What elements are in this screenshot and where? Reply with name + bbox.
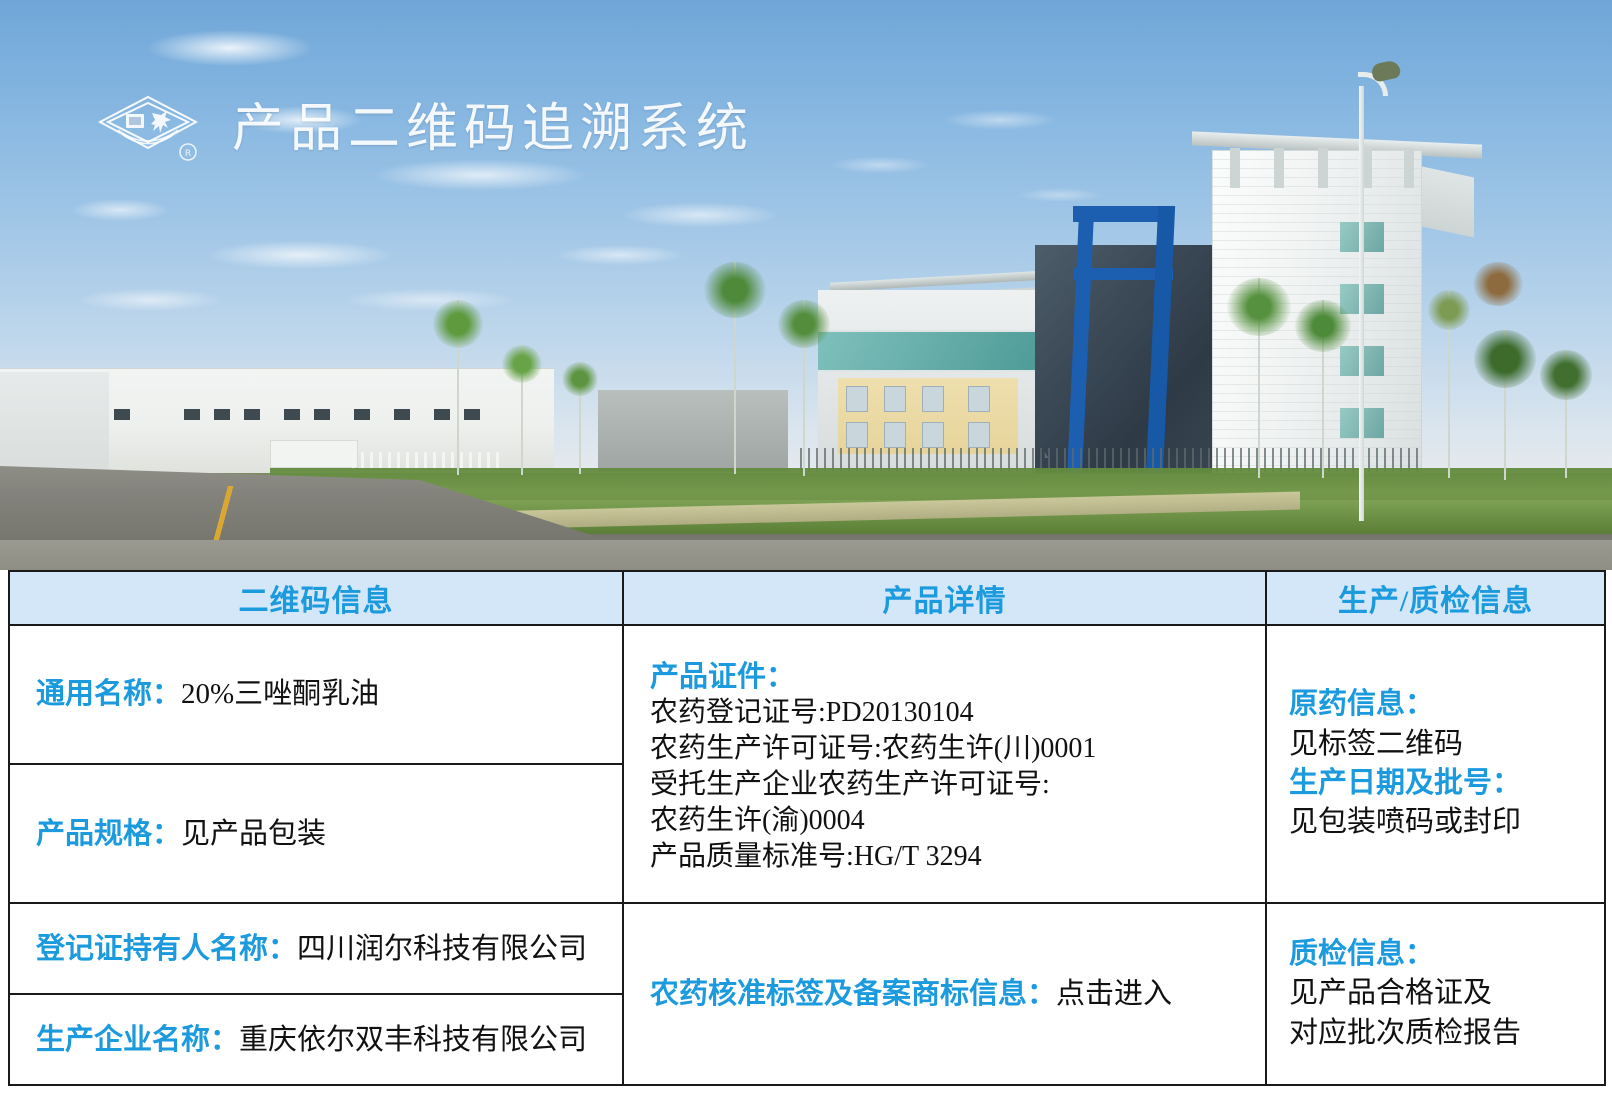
label-product-certificates: 产品证件： bbox=[650, 653, 1239, 695]
label-manufacturer-name: 生产企业名称： bbox=[36, 1024, 239, 1056]
cert-line: 农药生许(渝)0004 bbox=[650, 803, 1239, 839]
cell-registrant-name: 登记证持有人名称：四川润尔科技有限公司 bbox=[9, 903, 623, 994]
tree bbox=[1470, 330, 1540, 480]
approved-label-enter-link[interactable]: 点击进入 bbox=[1056, 978, 1172, 1010]
tree bbox=[430, 300, 486, 475]
traceability-page: R 产品二维码追溯系统 二维码信息 产品详情 生产/质检信息 通用名称：20%三… bbox=[0, 0, 1612, 1100]
cert-line: 受托生产企业农药生产许可证号: bbox=[650, 767, 1239, 803]
tower-roof-fins bbox=[1212, 148, 1422, 188]
value-manufacturer-name: 重庆依尔双丰科技有限公司 bbox=[239, 1024, 587, 1056]
svg-text:R: R bbox=[185, 149, 191, 159]
cert-line: 产品质量标准号:HG/T 3294 bbox=[650, 839, 1239, 875]
tree bbox=[700, 262, 770, 474]
tree bbox=[560, 362, 600, 474]
cell-manufacturer-name: 生产企业名称：重庆依尔双丰科技有限公司 bbox=[9, 994, 623, 1085]
label-registrant-name: 登记证持有人名称： bbox=[36, 933, 297, 965]
page-title: 产品二维码追溯系统 bbox=[232, 103, 754, 155]
table-header-row: 二维码信息 产品详情 生产/质检信息 bbox=[9, 571, 1605, 625]
foreground-pavement bbox=[0, 540, 1612, 570]
entrance-sign bbox=[270, 440, 358, 468]
label-production-date-batch: 生产日期及批号： bbox=[1289, 764, 1582, 803]
street-lamp-pole bbox=[1359, 86, 1364, 521]
label-product-spec: 产品规格： bbox=[36, 818, 181, 850]
tree bbox=[1536, 350, 1596, 478]
office-yellow-facade bbox=[838, 378, 1018, 454]
column-header-product: 产品详情 bbox=[623, 571, 1266, 625]
label-raw-material-info: 原药信息： bbox=[1289, 685, 1582, 724]
column-header-qr: 二维码信息 bbox=[9, 571, 623, 625]
value-product-spec: 见产品包装 bbox=[181, 818, 326, 850]
value-production-date-batch: 见包装喷码或封印 bbox=[1289, 803, 1582, 842]
cell-quality-info: 质检信息： 见产品合格证及 对应批次质检报告 bbox=[1266, 903, 1605, 1085]
value-quality-info-line1: 见产品合格证及 bbox=[1289, 974, 1582, 1013]
value-quality-info-line2: 对应批次质检报告 bbox=[1289, 1014, 1582, 1053]
cell-common-name: 通用名称：20%三唑酮乳油 bbox=[9, 625, 623, 764]
table-row: 登记证持有人名称：四川润尔科技有限公司 农药核准标签及备案商标信息：点击进入 质… bbox=[9, 903, 1605, 994]
label-quality-info: 质检信息： bbox=[1289, 935, 1582, 974]
value-common-name: 20%三唑酮乳油 bbox=[181, 678, 379, 710]
traceability-info-table: 二维码信息 产品详情 生产/质检信息 通用名称：20%三唑酮乳油 产品证件： 农… bbox=[8, 570, 1606, 1086]
label-common-name: 通用名称： bbox=[36, 678, 181, 710]
column-header-production: 生产/质检信息 bbox=[1266, 571, 1605, 625]
tree bbox=[1222, 278, 1296, 478]
cell-product-certificates: 产品证件： 农药登记证号:PD20130104 农药生产许可证号:农药生许(川)… bbox=[623, 625, 1266, 904]
tree bbox=[500, 345, 544, 475]
label-approved-label-trademark: 农药核准标签及备案商标信息： bbox=[650, 978, 1056, 1010]
office-glass-band bbox=[818, 330, 1046, 372]
factory-building-far-left bbox=[0, 372, 109, 472]
tree bbox=[1470, 262, 1526, 332]
tower-side-eave bbox=[1422, 166, 1474, 237]
tree bbox=[775, 300, 833, 476]
cell-production-info: 原药信息： 见标签二维码 生产日期及批号： 见包装喷码或封印 bbox=[1266, 625, 1605, 904]
tree bbox=[1290, 300, 1356, 478]
cell-approved-label-link[interactable]: 农药核准标签及备案商标信息：点击进入 bbox=[623, 903, 1266, 1085]
value-registrant-name: 四川润尔科技有限公司 bbox=[297, 933, 587, 965]
guoguang-logo-icon: R bbox=[96, 92, 200, 166]
table-row: 通用名称：20%三唑酮乳油 产品证件： 农药登记证号:PD20130104 农药… bbox=[9, 625, 1605, 764]
value-raw-material-info: 见标签二维码 bbox=[1289, 725, 1582, 764]
cell-product-spec: 产品规格：见产品包装 bbox=[9, 764, 623, 903]
cert-line: 农药生产许可证号:农药生许(川)0001 bbox=[650, 731, 1239, 767]
cert-line: 农药登记证号:PD20130104 bbox=[650, 695, 1239, 731]
tree bbox=[1425, 290, 1473, 478]
hero-banner-photo: R 产品二维码追溯系统 bbox=[0, 0, 1612, 570]
brand-header: R 产品二维码追溯系统 bbox=[96, 92, 754, 166]
